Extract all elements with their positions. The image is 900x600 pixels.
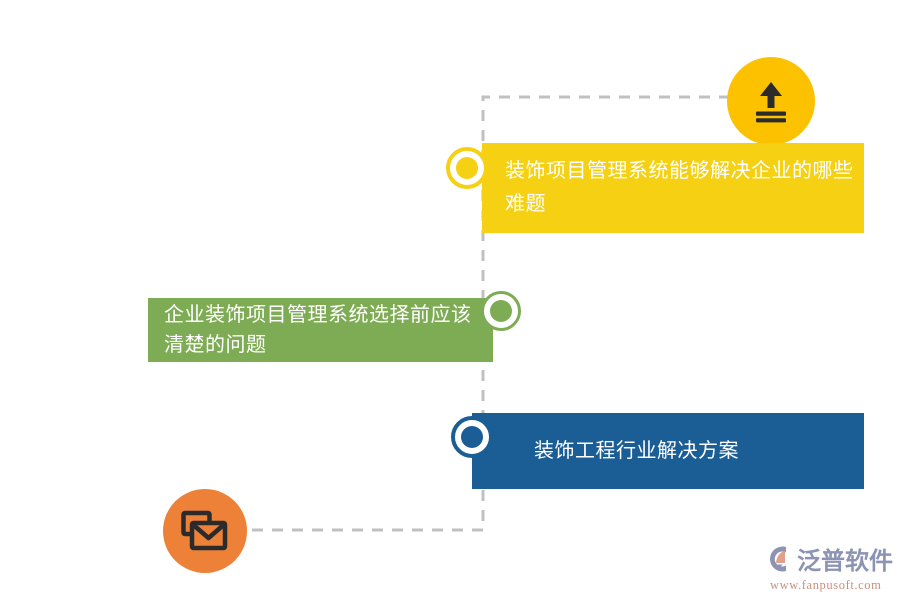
marker-yellow xyxy=(446,147,488,189)
node-green-label: 企业装饰项目管理系统选择前应该清楚的问题 xyxy=(164,300,483,360)
fanpu-logo-mark-icon xyxy=(763,545,793,573)
brand-watermark: 泛普软件 www.fanpusoft.com xyxy=(763,541,895,589)
marker-green xyxy=(481,291,521,331)
brand-name: 泛普软件 xyxy=(797,541,893,576)
mail-badge[interactable] xyxy=(163,489,247,573)
upload-badge[interactable] xyxy=(727,57,815,145)
brand-url: www.fanpusoft.com xyxy=(770,578,881,593)
node-yellow-label: 装饰项目管理系统能够解决企业的哪些难题 xyxy=(505,155,854,221)
marker-blue xyxy=(451,416,493,458)
mail-envelopes-icon xyxy=(181,510,229,552)
brand-row: 泛普软件 xyxy=(763,541,893,576)
upload-arrow-icon xyxy=(748,78,794,124)
node-blue[interactable]: 装饰工程行业解决方案 xyxy=(472,413,864,489)
marker-blue-core xyxy=(461,426,483,448)
node-yellow[interactable]: 装饰项目管理系统能够解决企业的哪些难题 xyxy=(482,143,864,233)
node-green[interactable]: 企业装饰项目管理系统选择前应该清楚的问题 xyxy=(148,298,493,362)
node-blue-label: 装饰工程行业解决方案 xyxy=(534,437,739,465)
diagram-canvas: 装饰项目管理系统能够解决企业的哪些难题 企业装饰项目管理系统选择前应该清楚的问题… xyxy=(0,0,900,600)
marker-green-core xyxy=(490,300,512,322)
marker-yellow-core xyxy=(456,157,478,179)
